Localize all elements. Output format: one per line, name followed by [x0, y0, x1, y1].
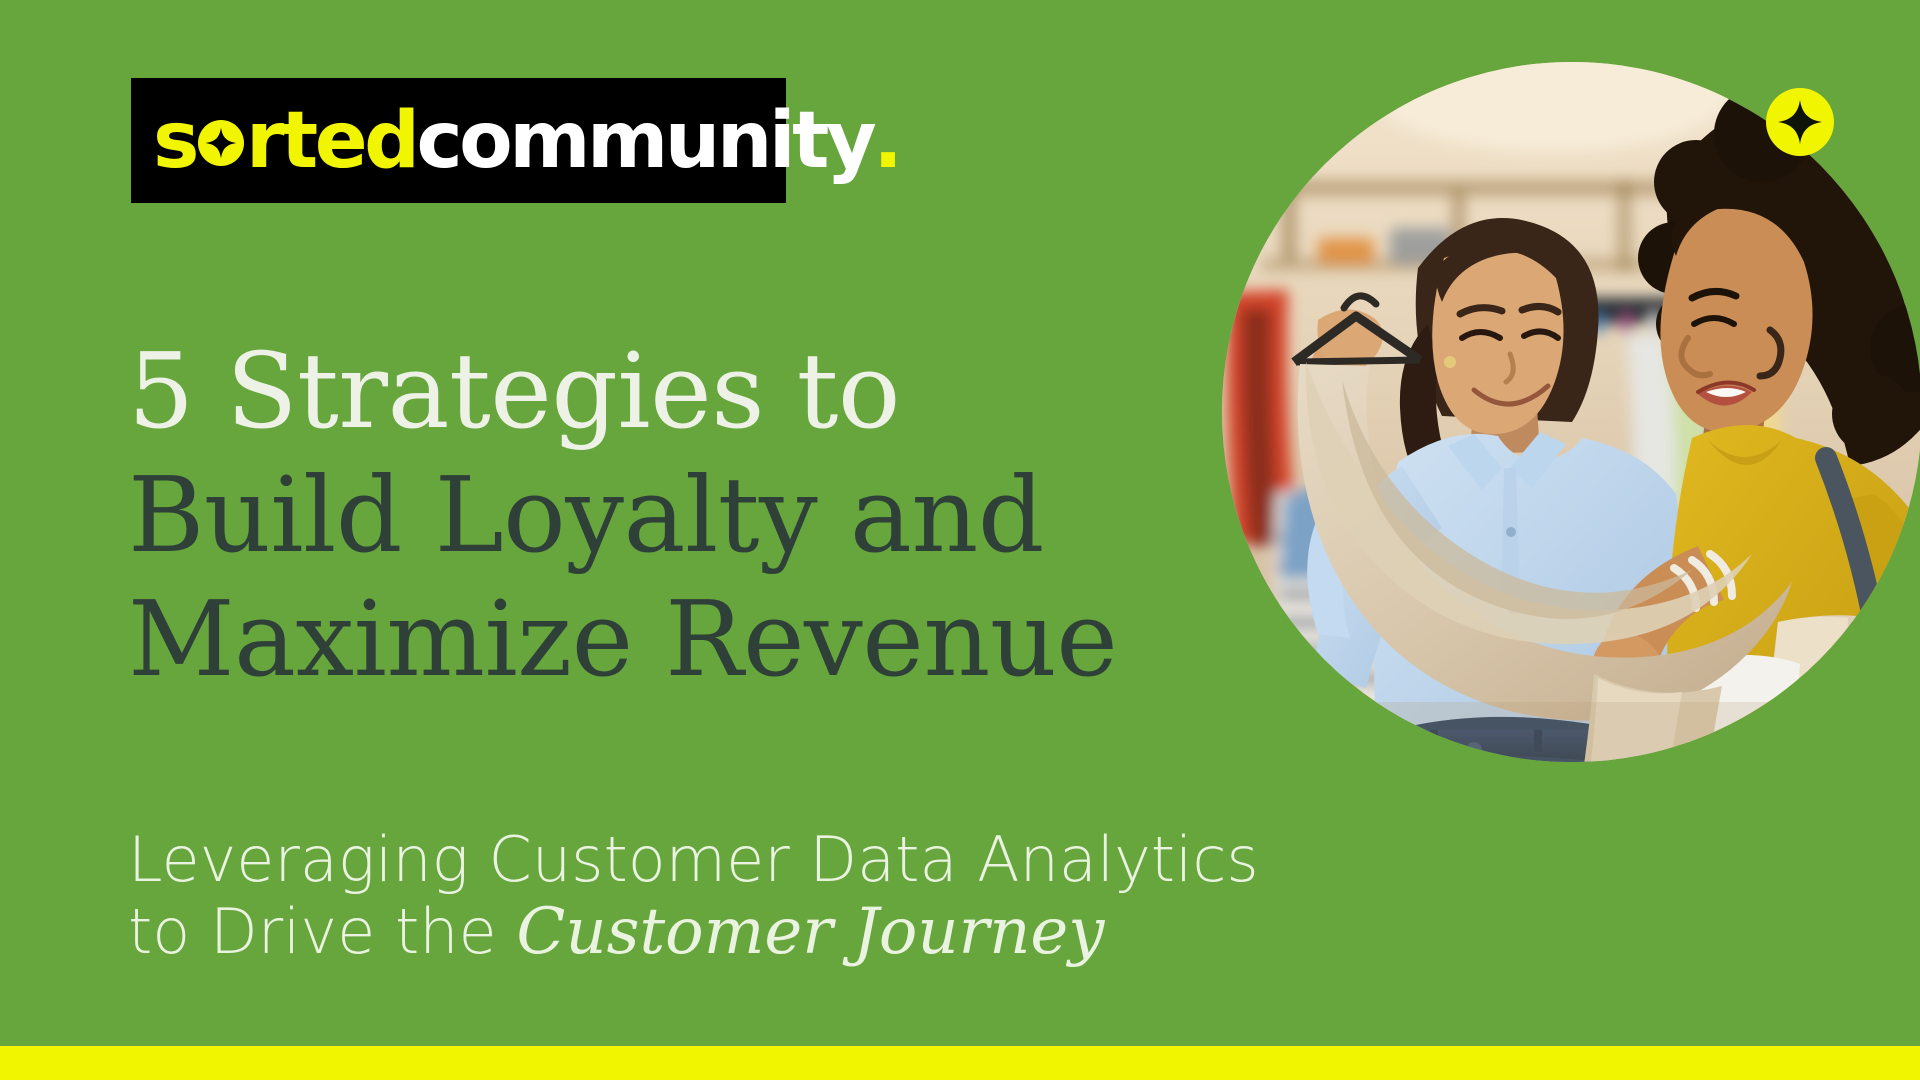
subtitle-line-2: to Drive the Customer Journey: [128, 896, 1478, 969]
logo-sparkle-o: [196, 111, 246, 167]
subtitle-emphasis: Customer Journey: [516, 895, 1104, 969]
sparkle-star-icon: [1776, 98, 1824, 146]
sparkle-badge: [1766, 88, 1834, 156]
page-subtitle: Leveraging Customer Data Analytics to Dr…: [128, 825, 1478, 969]
headline-line-2: Build Loyalty and: [128, 454, 1248, 578]
subtitle-line-2-prefix: to Drive the: [128, 895, 516, 968]
hero-photo-circle: [1222, 62, 1920, 762]
page-title: 5 Strategies to Build Loyalty and Maximi…: [128, 330, 1248, 701]
bottom-accent-bar: [0, 1046, 1920, 1080]
brand-wordmark: s rted community .: [153, 102, 899, 180]
logo-text-period: .: [873, 102, 899, 180]
logo-text-s: s: [153, 102, 196, 180]
shopping-photo-illustration: [1222, 62, 1920, 762]
brand-logo[interactable]: s rted community .: [131, 78, 786, 203]
logo-text-community: community: [416, 102, 873, 180]
title-card-canvas: s rted community . 5 Strategies to Build…: [0, 0, 1920, 1080]
headline-line-1: 5 Strategies to: [128, 330, 1248, 454]
sparkle-star-icon: [205, 127, 237, 159]
subtitle-line-1: Leveraging Customer Data Analytics: [128, 825, 1478, 896]
logo-text-rted: rted: [246, 102, 417, 180]
headline-line-3: Maximize Revenue: [128, 578, 1248, 702]
